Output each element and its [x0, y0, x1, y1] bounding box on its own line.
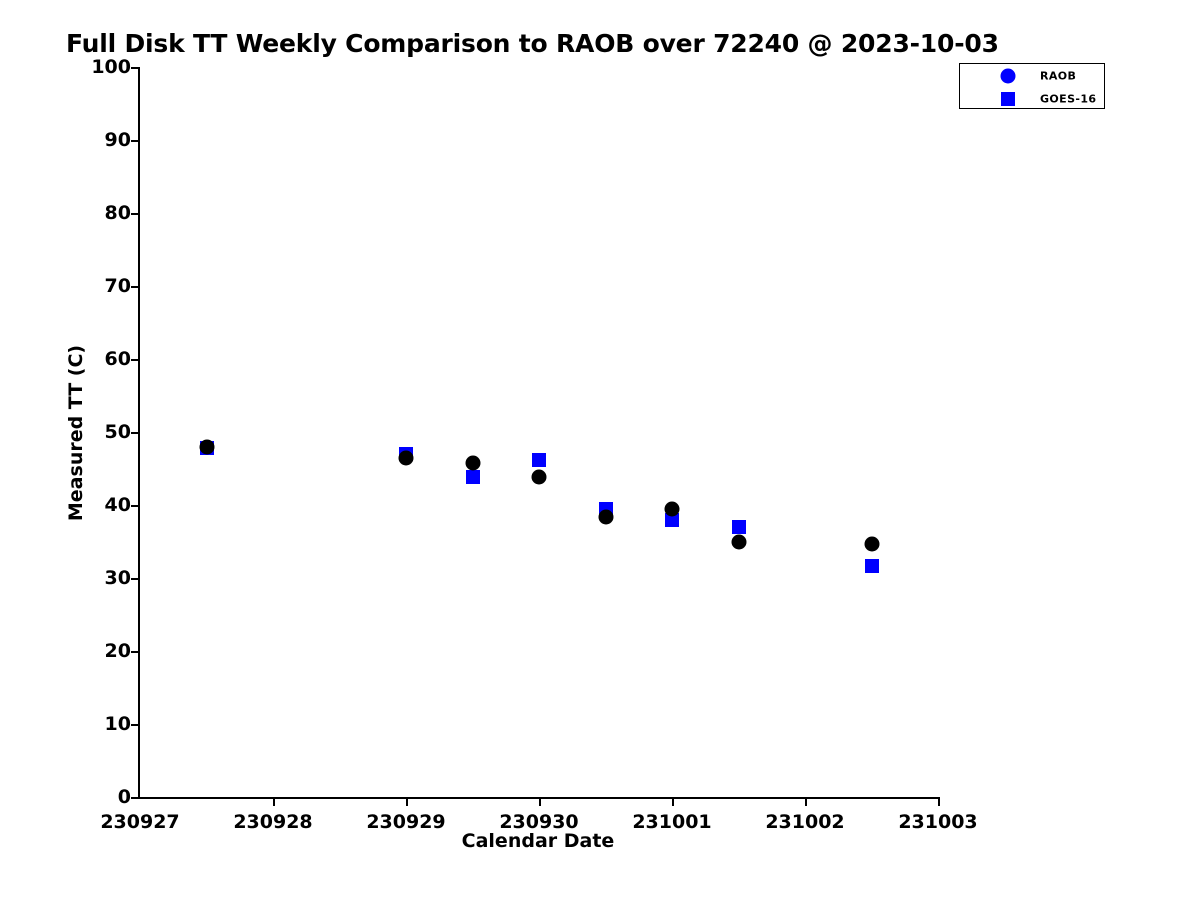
legend-item-raob: RAOB [960, 64, 1104, 87]
legend-marker-circle-icon [1001, 68, 1016, 83]
y-axis-tick-label: 80 [105, 202, 131, 224]
y-axis-tick-label: 10 [105, 713, 131, 735]
plot-area: 0102030405060708090100230927230928230929… [138, 67, 938, 799]
data-point-goes-16 [466, 470, 480, 484]
y-axis-tick-mark [131, 213, 140, 215]
y-axis-tick-mark [131, 286, 140, 288]
y-axis-tick-label: 50 [105, 421, 131, 443]
y-axis-tick-label: 60 [105, 348, 131, 370]
legend-label: GOES-16 [1040, 92, 1097, 105]
chart-figure: Full Disk TT Weekly Comparison to RAOB o… [0, 0, 1200, 900]
data-point-raob [731, 535, 746, 550]
y-axis-tick-label: 100 [91, 56, 131, 78]
y-axis-tick-mark [131, 578, 140, 580]
x-axis-tick-mark [406, 797, 408, 806]
x-axis-tick-mark [539, 797, 541, 806]
y-axis-tick-label: 40 [105, 494, 131, 516]
x-axis-label: Calendar Date [138, 830, 938, 852]
y-axis-tick-label: 90 [105, 129, 131, 151]
x-axis-tick-mark [672, 797, 674, 806]
y-axis-label: Measured TT (C) [62, 67, 90, 799]
y-axis-tick-mark [131, 724, 140, 726]
data-point-goes-16 [532, 453, 546, 467]
data-point-raob [532, 469, 547, 484]
legend: RAOBGOES-16 [959, 63, 1105, 109]
x-axis-tick-mark [805, 797, 807, 806]
y-axis-tick-label: 0 [118, 786, 131, 808]
legend-item-goes-16: GOES-16 [960, 87, 1104, 110]
data-point-goes-16 [732, 520, 746, 534]
legend-label: RAOB [1040, 69, 1076, 82]
data-point-raob [399, 450, 414, 465]
y-axis-tick-mark [131, 797, 140, 799]
y-axis-tick-mark [131, 505, 140, 507]
data-point-goes-16 [865, 559, 879, 573]
data-point-raob [665, 501, 680, 516]
plot-canvas: 0102030405060708090100230927230928230929… [140, 67, 938, 797]
data-point-raob [598, 510, 613, 525]
y-axis-tick-label: 30 [105, 567, 131, 589]
y-axis-tick-mark [131, 67, 140, 69]
x-axis-tick-mark [938, 797, 940, 806]
y-axis-tick-mark [131, 651, 140, 653]
y-axis-tick-mark [131, 359, 140, 361]
legend-marker-square-icon [1001, 92, 1015, 106]
y-axis-tick-label: 20 [105, 640, 131, 662]
data-point-raob [199, 439, 214, 454]
data-point-raob [465, 456, 480, 471]
y-axis-tick-mark [131, 432, 140, 434]
y-axis-tick-mark [131, 140, 140, 142]
x-axis-tick-mark [273, 797, 275, 806]
data-point-raob [864, 537, 879, 552]
page-title: Full Disk TT Weekly Comparison to RAOB o… [66, 29, 999, 58]
y-axis-tick-label: 70 [105, 275, 131, 297]
